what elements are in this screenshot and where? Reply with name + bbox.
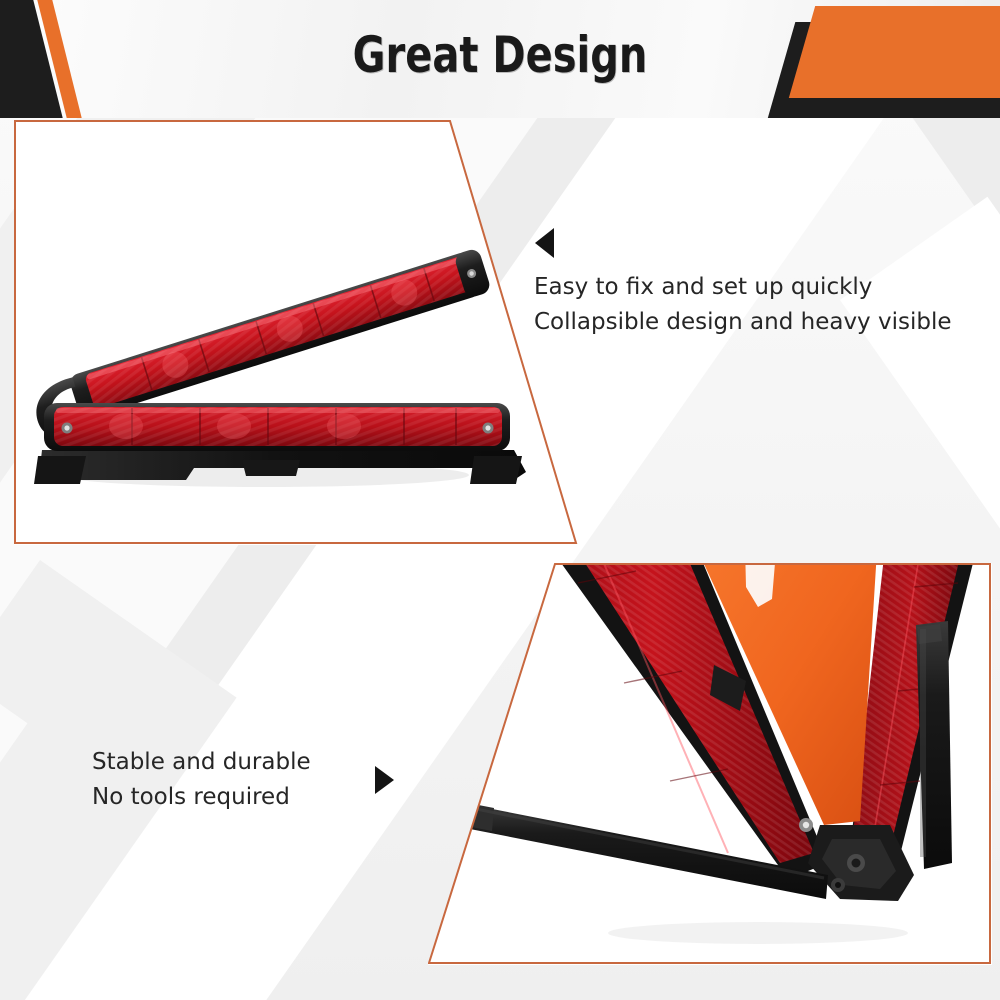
callout-right-line-1: Easy to fix and set up quickly (534, 270, 952, 305)
triangle-right-icon (375, 766, 394, 794)
infographic-page: Great Design (0, 0, 1000, 1000)
page-title: Great Design (100, 26, 900, 84)
panel-bottom-right-border (428, 563, 992, 965)
callout-right-text: Easy to fix and set up quickly Collapsib… (534, 270, 952, 340)
callout-left-text: Stable and durable No tools required (92, 745, 311, 815)
triangle-left-icon (535, 228, 554, 258)
header-banner: Great Design (0, 0, 1000, 118)
panel-top-left-border (14, 120, 578, 545)
callout-left-line-2: No tools required (92, 780, 311, 815)
callout-left-line-1: Stable and durable (92, 745, 311, 780)
callout-right-line-2: Collapsible design and heavy visible (534, 305, 952, 340)
